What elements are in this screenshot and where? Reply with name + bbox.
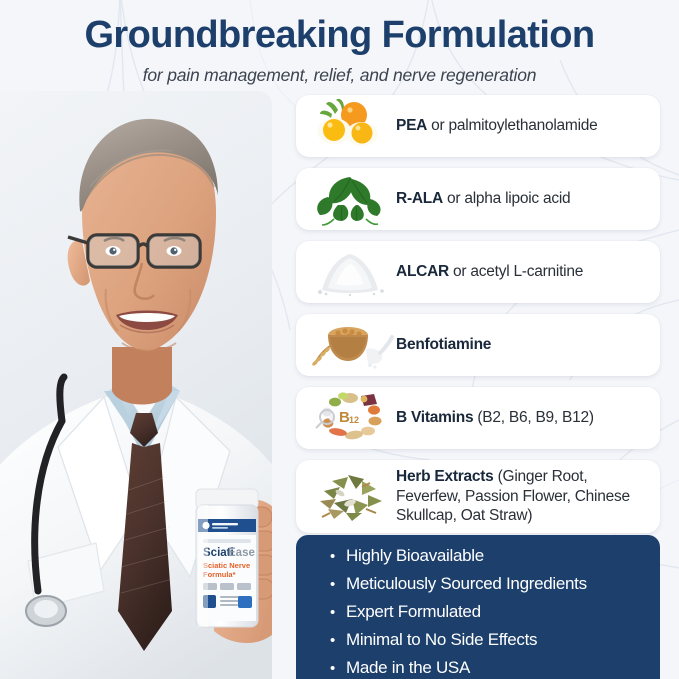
bullet-icon: • [330, 605, 346, 620]
ingredient-card-benfotiamine[interactable]: Benfotiamine [296, 314, 660, 376]
benefit-label: Minimal to No Side Effects [346, 631, 537, 648]
dried-herbs-icon [304, 469, 396, 525]
page-subtitle: for pain management, relief, and nerve r… [0, 65, 679, 86]
ingredient-detail: or acetyl L-carnitine [449, 263, 583, 280]
page-title: Groundbreaking Formulation [0, 0, 679, 54]
svg-text:12: 12 [349, 415, 359, 425]
ingredient-label: Herb Extracts (Ginger Root, Feverfew, Pa… [396, 467, 660, 526]
b12-foods-icon: B 12 [304, 390, 396, 446]
benefit-item: • Highly Bioavailable [330, 547, 660, 564]
benefit-item: • Expert Formulated [330, 603, 660, 620]
ingredient-detail: or palmitoylethanolamide [427, 117, 597, 134]
ingredient-label: R-ALA or alpha lipoic acid [396, 189, 578, 209]
ingredient-card-herb-extracts[interactable]: Herb Extracts (Ginger Root, Feverfew, Pa… [296, 460, 660, 533]
benefit-label: Meticulously Sourced Ingredients [346, 575, 587, 592]
bullet-icon: • [330, 577, 346, 592]
benefits-box: • Highly Bioavailable • Meticulously Sou… [296, 535, 660, 679]
ingredient-name: Herb Extracts [396, 468, 494, 485]
ingredient-label: PEA or palmitoylethanolamide [396, 116, 606, 136]
svg-text:Sciatic Nerve: Sciatic Nerve [203, 561, 250, 570]
benefit-label: Highly Bioavailable [346, 547, 484, 564]
ingredient-card-b-vitamins[interactable]: B 12 B Vitamins (B2, B6, B9, B12) [296, 387, 660, 449]
benefit-item: • Made in the USA [330, 659, 660, 676]
product-bottle: Sciati Ease Sciatic Nerve Formula* [196, 489, 258, 627]
ingredient-label: B Vitamins (B2, B6, B9, B12) [396, 408, 602, 428]
spinach-icon [304, 171, 396, 227]
ingredient-name: Benfotiamine [396, 336, 491, 353]
bullet-icon: • [330, 633, 346, 648]
ingredient-name: R-ALA [396, 190, 443, 207]
white-powder-icon [304, 244, 396, 300]
benefit-item: • Minimal to No Side Effects [330, 631, 660, 648]
svg-text:Ease: Ease [228, 547, 255, 559]
ingredient-card-alcar[interactable]: ALCAR or acetyl L-carnitine [296, 241, 660, 303]
ingredient-name: PEA [396, 117, 427, 134]
ingredient-name: B Vitamins [396, 409, 473, 426]
ingredient-name: ALCAR [396, 263, 449, 280]
ingredient-label: Benfotiamine [396, 335, 499, 355]
grain-bowl-icon [304, 317, 396, 373]
bullet-icon: • [330, 549, 346, 564]
benefit-label: Made in the USA [346, 659, 470, 676]
doctor-photo-panel: Sciati Ease Sciatic Nerve Formula* [0, 91, 272, 679]
ingredient-card-pea[interactable]: PEA or palmitoylethanolamide [296, 95, 660, 157]
ingredient-detail: or alpha lipoic acid [443, 190, 570, 207]
header: Groundbreaking Formulation for pain mana… [0, 0, 679, 91]
ingredient-detail: (B2, B6, B9, B12) [473, 409, 593, 426]
ingredient-label: ALCAR or acetyl L-carnitine [396, 262, 591, 282]
egg-yolks-icon [304, 98, 396, 154]
ingredient-card-list: PEA or palmitoylethanolamide [296, 95, 660, 544]
benefit-label: Expert Formulated [346, 603, 481, 620]
doctor-photo-image: Sciati Ease Sciatic Nerve Formula* [0, 91, 272, 679]
ingredient-card-rala[interactable]: R-ALA or alpha lipoic acid [296, 168, 660, 230]
benefit-item: • Meticulously Sourced Ingredients [330, 575, 660, 592]
bullet-icon: • [330, 661, 346, 676]
